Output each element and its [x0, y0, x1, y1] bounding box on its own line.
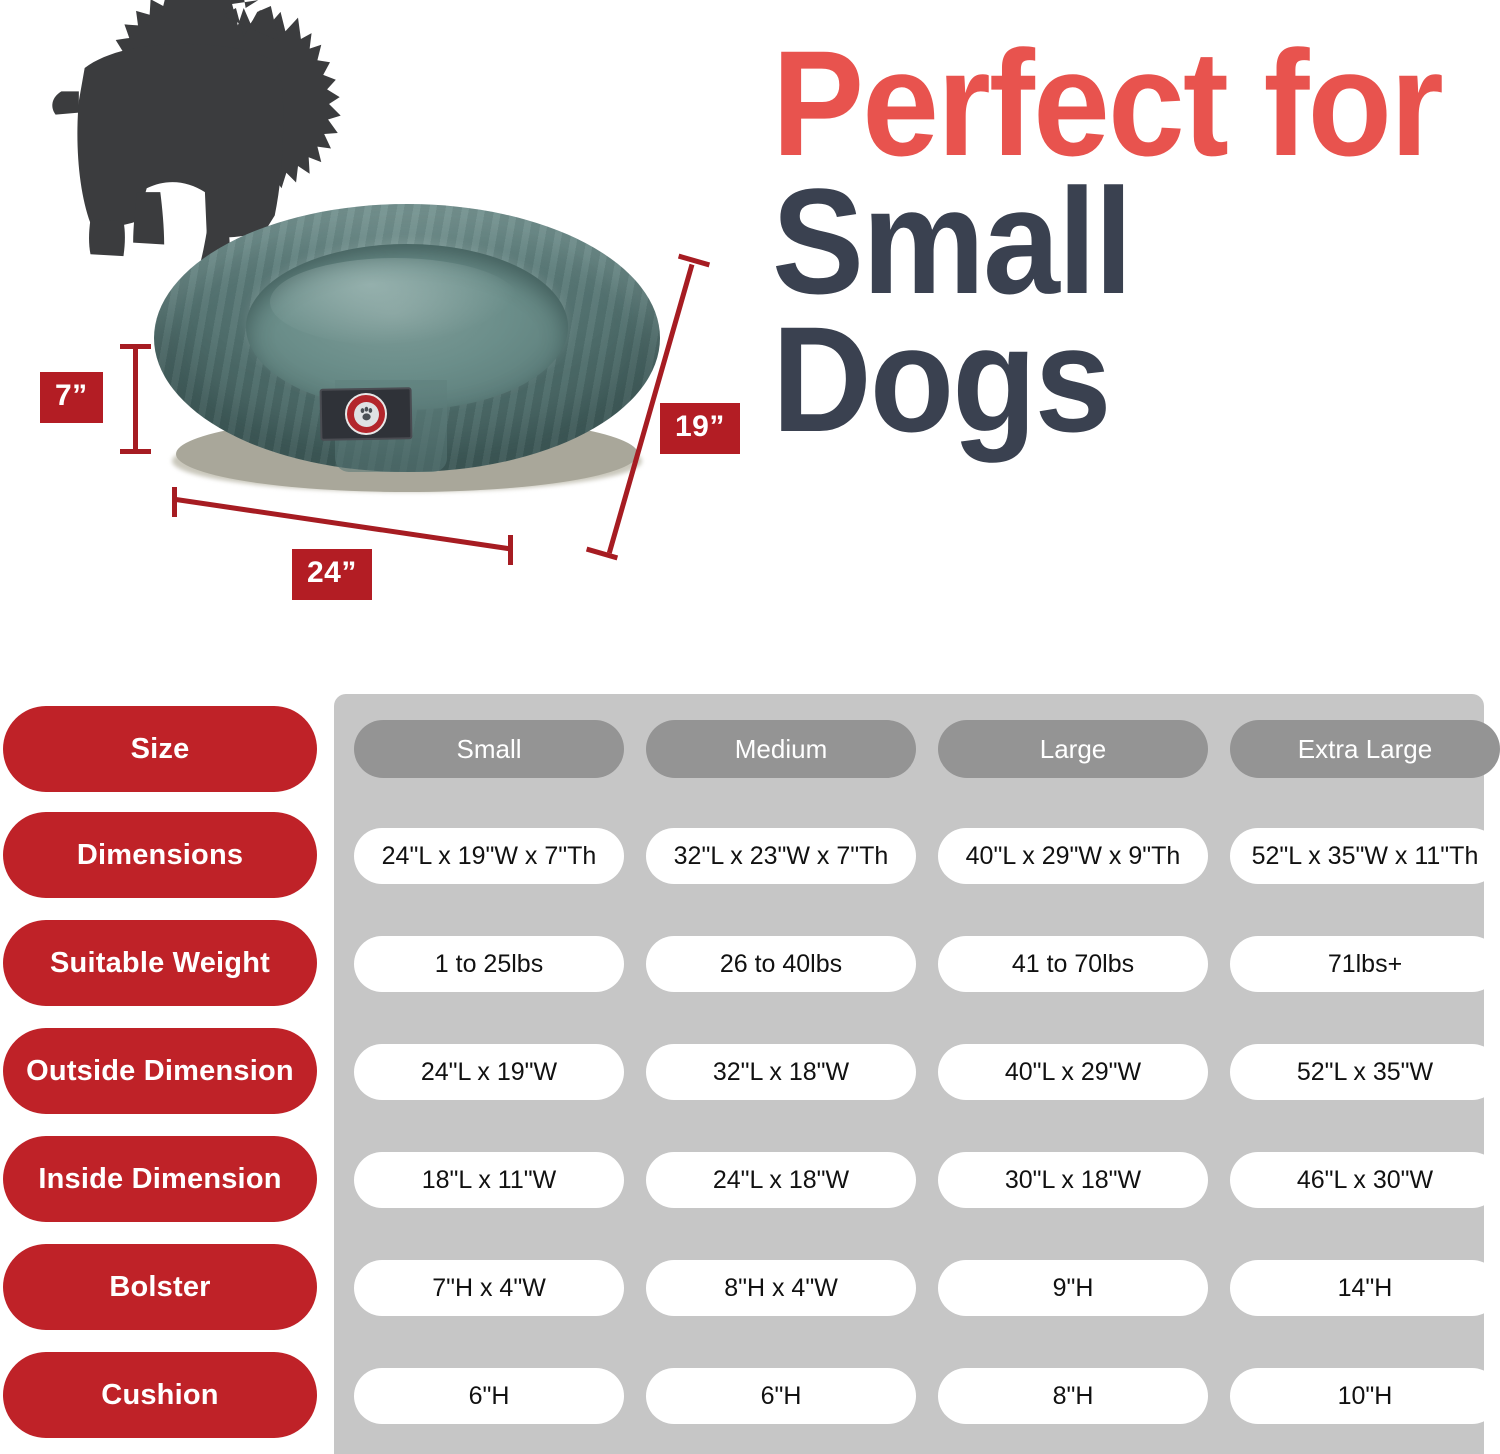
- spec-row-label: Dimensions: [3, 812, 317, 898]
- dog-bed-product-image: [150, 180, 670, 520]
- spec-cell: 6"H: [646, 1368, 916, 1424]
- spec-cell: 40"L x 29"W x 9"Th: [938, 828, 1208, 884]
- width-measure-cap-bottom: [586, 547, 618, 561]
- spec-row-label: Outside Dimension: [3, 1028, 317, 1114]
- spec-cell: 52"L x 35"W: [1230, 1044, 1500, 1100]
- spec-cell: 14"H: [1230, 1260, 1500, 1316]
- logo-circle: [345, 393, 388, 436]
- spec-cell: 40"L x 29"W: [938, 1044, 1208, 1100]
- spec-cell: 24"L x 19"W x 7"Th: [354, 828, 624, 884]
- spec-cell: 8"H x 4"W: [646, 1260, 916, 1316]
- spec-cell: 32"L x 23"W x 7"Th: [646, 828, 916, 884]
- headline-line-1: Perfect for: [772, 34, 1434, 172]
- headline-line-2: Small: [772, 172, 1434, 310]
- paw-glyph: [356, 404, 375, 423]
- spec-column-header: Large: [938, 720, 1208, 778]
- spec-cell: 24"L x 19"W: [354, 1044, 624, 1100]
- spec-cell: 71lbs+: [1230, 936, 1500, 992]
- spec-cell: 24"L x 18"W: [646, 1152, 916, 1208]
- spec-row-label: Inside Dimension: [3, 1136, 317, 1222]
- length-measure-cap-left: [172, 487, 177, 517]
- spec-row-label: Cushion: [3, 1352, 317, 1438]
- height-callout-label: 7”: [40, 372, 103, 423]
- spec-cell: 9"H: [938, 1260, 1208, 1316]
- spec-cell: 8"H: [938, 1368, 1208, 1424]
- spec-cell: 52"L x 35"W x 11"Th: [1230, 828, 1500, 884]
- spec-cell: 30"L x 18"W: [938, 1152, 1208, 1208]
- spec-column-header: Small: [354, 720, 624, 778]
- product-infographic: 7” 24” 19” Perfect for Small Dogs SmallM…: [0, 0, 1500, 1454]
- spec-cell: 32"L x 18"W: [646, 1044, 916, 1100]
- spec-cell: 41 to 70lbs: [938, 936, 1208, 992]
- paw-print-icon: [353, 401, 378, 426]
- spec-row-label: Size: [3, 706, 317, 792]
- spec-row-label: Suitable Weight: [3, 920, 317, 1006]
- bed-cushion-sheen: [270, 258, 520, 346]
- length-callout-label: 24”: [292, 549, 372, 600]
- spec-cell: 1 to 25lbs: [354, 936, 624, 992]
- spec-cell: 6"H: [354, 1368, 624, 1424]
- spec-cell: 10"H: [1230, 1368, 1500, 1424]
- spec-cell: 18"L x 11"W: [354, 1152, 624, 1208]
- headline-line-3: Dogs: [772, 310, 1434, 448]
- headline-block: Perfect for Small Dogs: [772, 34, 1492, 448]
- length-measure-cap-right: [508, 535, 513, 565]
- hero-section: 7” 24” 19” Perfect for Small Dogs: [0, 0, 1500, 690]
- spec-cell: 7"H x 4"W: [354, 1260, 624, 1316]
- width-callout-label: 19”: [660, 403, 740, 454]
- spec-cell: 26 to 40lbs: [646, 936, 916, 992]
- spec-cell: 46"L x 30"W: [1230, 1152, 1500, 1208]
- spec-column-header: Medium: [646, 720, 916, 778]
- height-measure-line: [133, 344, 138, 454]
- spec-table-panel: SmallMediumLargeExtra Large24"L x 19"W x…: [334, 694, 1484, 1454]
- spec-row-label-column: SizeDimensionsSuitable WeightOutside Dim…: [3, 694, 317, 1454]
- height-measure-cap-bottom: [120, 449, 151, 454]
- height-measure-cap-top: [120, 344, 151, 349]
- spec-column-header: Extra Large: [1230, 720, 1500, 778]
- spec-row-label: Bolster: [3, 1244, 317, 1330]
- majestic-pet-logo-tag: [320, 387, 413, 441]
